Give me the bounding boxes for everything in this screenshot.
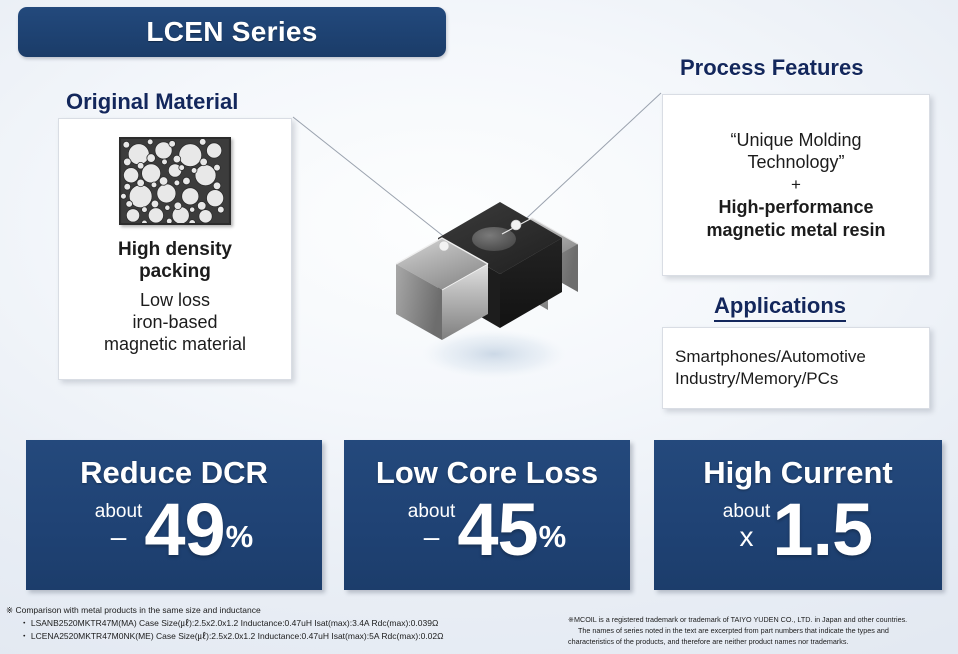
stat-prefix: about – xyxy=(95,502,143,565)
footnote-left-line-1: ※ Comparison with metal products in the … xyxy=(6,604,476,617)
stat-operator: – xyxy=(424,523,440,551)
original-material-strong-text: High densitypacking xyxy=(118,239,232,284)
stat-value-row: about – 45 % xyxy=(344,495,630,565)
card-original-material: High densitypacking Low lossiron-basedma… xyxy=(58,118,292,380)
stat-number: 45 xyxy=(457,495,537,565)
footnote-right-line-2: The names of series noted in the text ar… xyxy=(568,625,956,636)
stat-about-label: about xyxy=(95,502,143,521)
footnote-left-line-3: ・ LCENA2520MKTR47M0NK(ME) Case Size(㎕):2… xyxy=(6,630,476,643)
stat-operator: x xyxy=(740,523,754,551)
lcen-inductor-3d-render xyxy=(382,182,602,397)
heading-process-features: Process Features xyxy=(680,55,863,81)
stat-number: 49 xyxy=(144,495,224,565)
stat-about-label: about xyxy=(408,502,456,521)
title-banner: LCEN Series xyxy=(18,7,446,57)
page-title: LCEN Series xyxy=(146,16,317,48)
card-process-features: “Unique MoldingTechnology” + High-perfor… xyxy=(662,94,930,276)
magnetic-powder-micrograph xyxy=(119,137,231,225)
stat-card-low-core-loss: Low Core Loss about – 45 % xyxy=(344,440,630,590)
stat-value-row: about x 1.5 xyxy=(654,495,942,565)
process-plus-sign: + xyxy=(791,174,801,196)
card-applications: Smartphones/Automotive Industry/Memory/P… xyxy=(662,327,930,409)
original-material-body-text: Low lossiron-basedmagnetic material xyxy=(104,290,246,356)
stat-prefix: about – xyxy=(408,502,456,565)
stat-unit: % xyxy=(226,519,254,565)
footnote-right-line-1: ※MCOIL is a registered trademark or trad… xyxy=(568,614,956,625)
footnote-left: ※ Comparison with metal products in the … xyxy=(6,604,476,642)
stat-card-high-current: High Current about x 1.5 xyxy=(654,440,942,590)
stat-operator: – xyxy=(111,523,127,551)
process-bold-text: High-performancemagnetic metal resin xyxy=(706,196,885,241)
footnote-right-line-3: characteristics of the products, and the… xyxy=(568,636,956,647)
stat-value-row: about – 49 % xyxy=(26,495,322,565)
stat-title: Reduce DCR xyxy=(80,455,268,491)
footnote-left-line-2: ・ LSANB2520MKTR47M(MA) Case Size(㎕):2.5x… xyxy=(6,617,476,630)
applications-line-2: Industry/Memory/PCs xyxy=(675,368,929,390)
stat-title: Low Core Loss xyxy=(376,455,598,491)
heading-original-material: Original Material xyxy=(66,89,238,115)
stat-number: 1.5 xyxy=(772,495,872,565)
footnote-right: ※MCOIL is a registered trademark or trad… xyxy=(568,614,956,647)
process-light-text: “Unique MoldingTechnology” xyxy=(730,129,861,174)
stat-about-label: about xyxy=(723,502,771,521)
stat-title: High Current xyxy=(703,455,892,491)
stat-card-reduce-dcr: Reduce DCR about – 49 % xyxy=(26,440,322,590)
heading-applications: Applications xyxy=(714,293,846,322)
slide-root: LCEN Series Original Material xyxy=(0,0,958,654)
stat-unit: % xyxy=(539,519,567,565)
applications-line-1: Smartphones/Automotive xyxy=(675,346,929,368)
stat-prefix: about x xyxy=(723,502,771,565)
